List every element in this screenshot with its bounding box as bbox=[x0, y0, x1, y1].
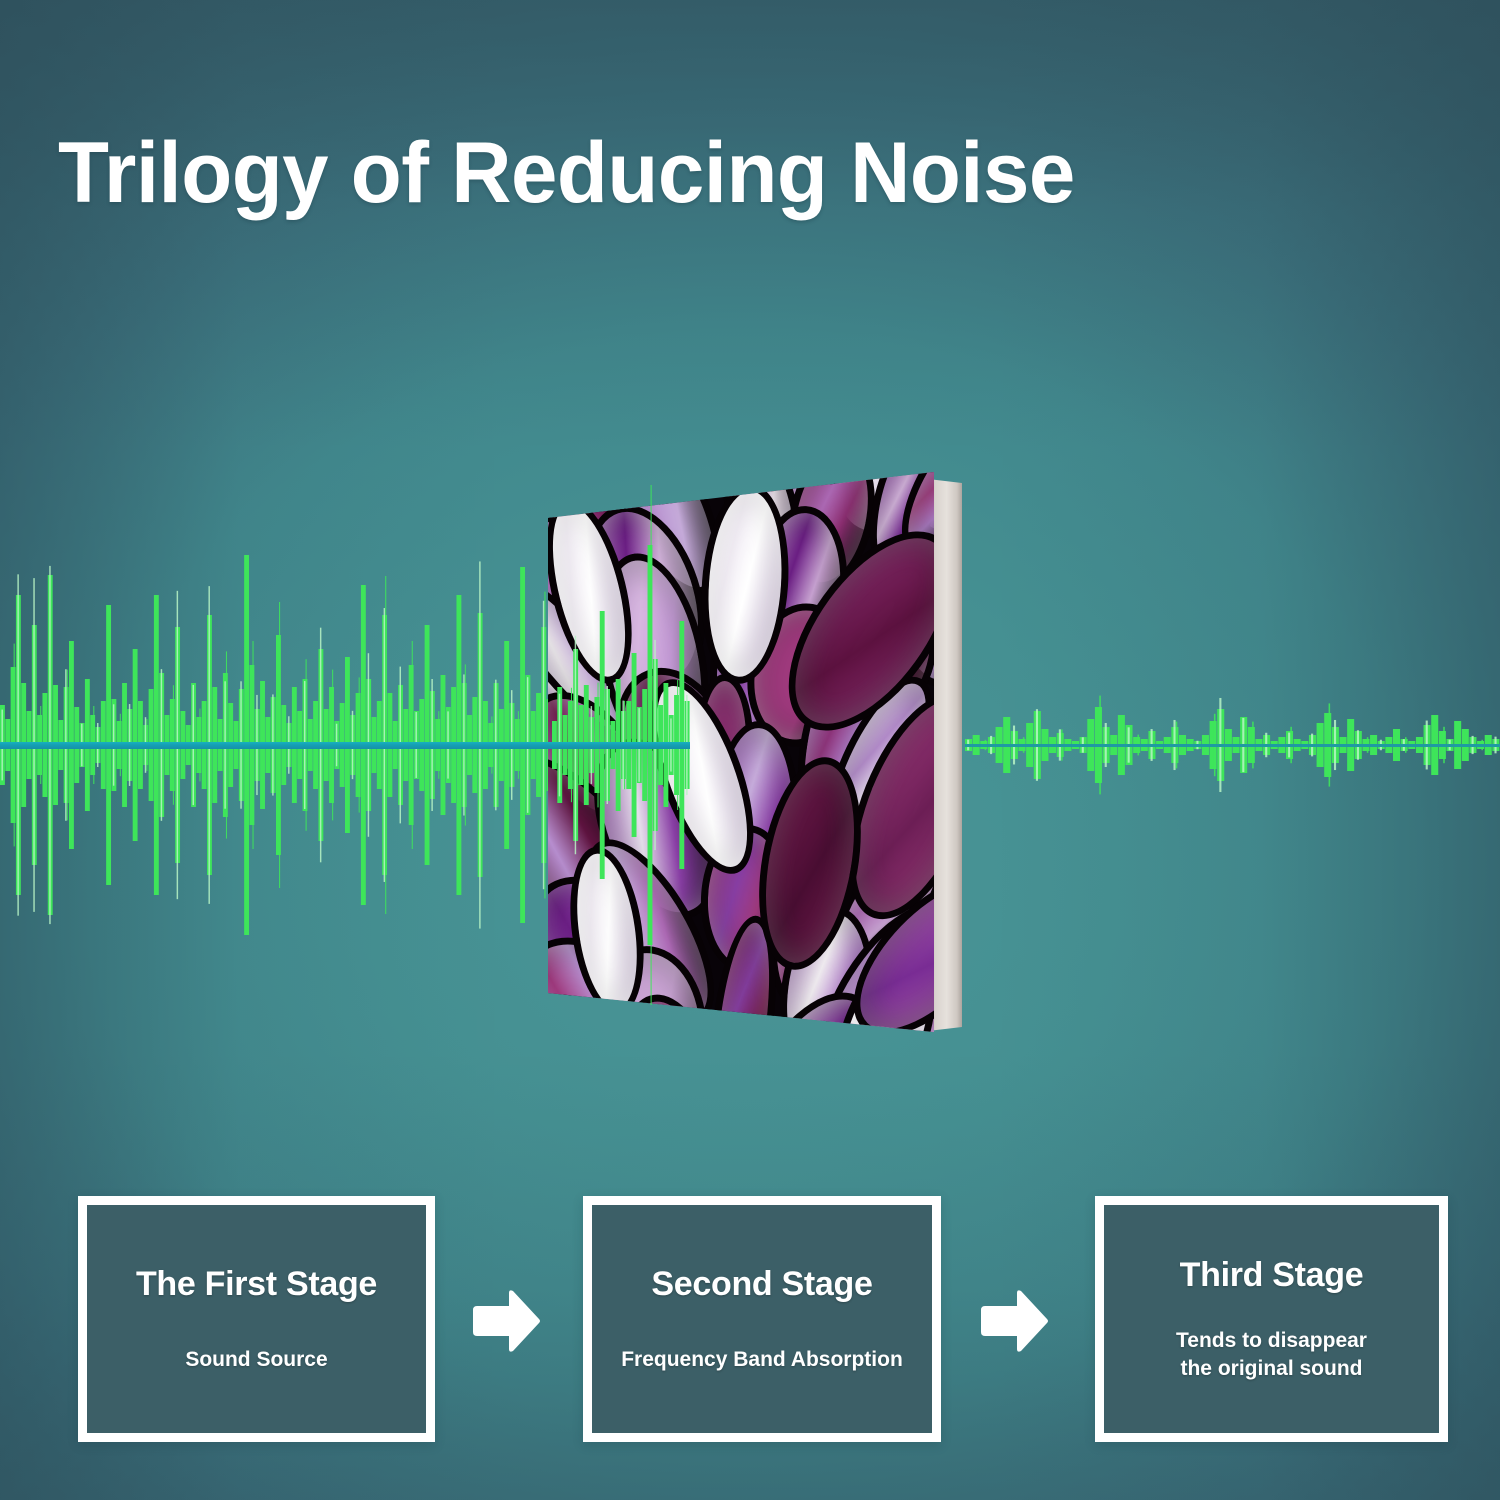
stained-glass-artwork bbox=[548, 472, 934, 1032]
panel-group bbox=[0, 0, 1500, 1500]
glass-petal bbox=[568, 472, 734, 498]
panel-front-face bbox=[548, 472, 934, 1032]
waveform-centerline-left bbox=[0, 742, 690, 749]
glass-petal bbox=[666, 1016, 786, 1032]
glass-petal bbox=[548, 1002, 627, 1032]
arrow-right-icon bbox=[977, 1288, 1051, 1354]
slide-canvas: Trilogy of Reducing Noise The First Stag… bbox=[0, 0, 1500, 1500]
arrow-right-icon bbox=[469, 1288, 543, 1354]
glass-petal bbox=[548, 1001, 667, 1032]
